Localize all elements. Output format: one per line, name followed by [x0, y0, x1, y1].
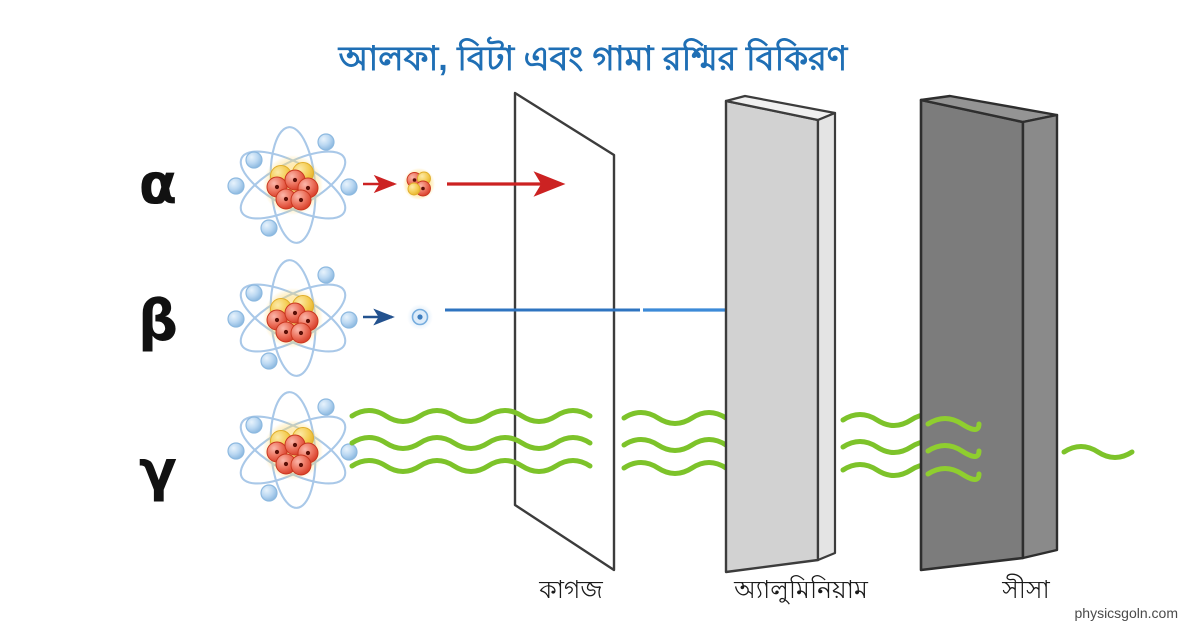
atom-alpha [228, 126, 357, 245]
page-title: আলফা, বিটা এবং গামা রশ্মির বিকিরণ [338, 36, 849, 78]
barrier-lead [921, 96, 1057, 570]
barrier-paper [515, 93, 614, 570]
alpha-symbol-label: α [139, 152, 177, 217]
site-watermark: physicsgoln.com [1075, 605, 1179, 621]
barrier-label-lead: সীসা [1001, 574, 1050, 604]
alpha-emission-group [363, 168, 435, 200]
gamma-wave-emerging [1064, 447, 1132, 458]
lead-side-face [1023, 115, 1057, 558]
barrier-label-paper: কাগজ [538, 576, 603, 604]
atom-beta [228, 259, 357, 378]
atom-nucleus [263, 155, 323, 215]
barrier-label-aluminium: অ্যালুমিনিয়াম [733, 575, 869, 605]
barrier-aluminium [726, 96, 835, 572]
atom-nucleus [263, 288, 323, 348]
atom-gamma [228, 391, 357, 510]
paper-sheet-face [515, 93, 614, 570]
atom-nucleus [263, 420, 323, 480]
electron-particle-icon [407, 304, 433, 330]
gamma-symbol-label: γ [139, 439, 177, 504]
alpha-particle-icon [403, 168, 435, 200]
lead-front-face [921, 100, 1023, 570]
radiation-penetration-diagram: আলফা, বিটা এবং গামা রশ্মির বিকিরণ α β γ [0, 0, 1186, 628]
beta-emission-group [363, 304, 433, 330]
aluminium-front-face [726, 101, 818, 572]
beta-symbol-label: β [138, 289, 178, 354]
aluminium-side-face [818, 113, 835, 560]
diagram-canvas: আলফা, বিটা এবং গামা রশ্মির বিকিরণ α β γ [0, 0, 1186, 628]
